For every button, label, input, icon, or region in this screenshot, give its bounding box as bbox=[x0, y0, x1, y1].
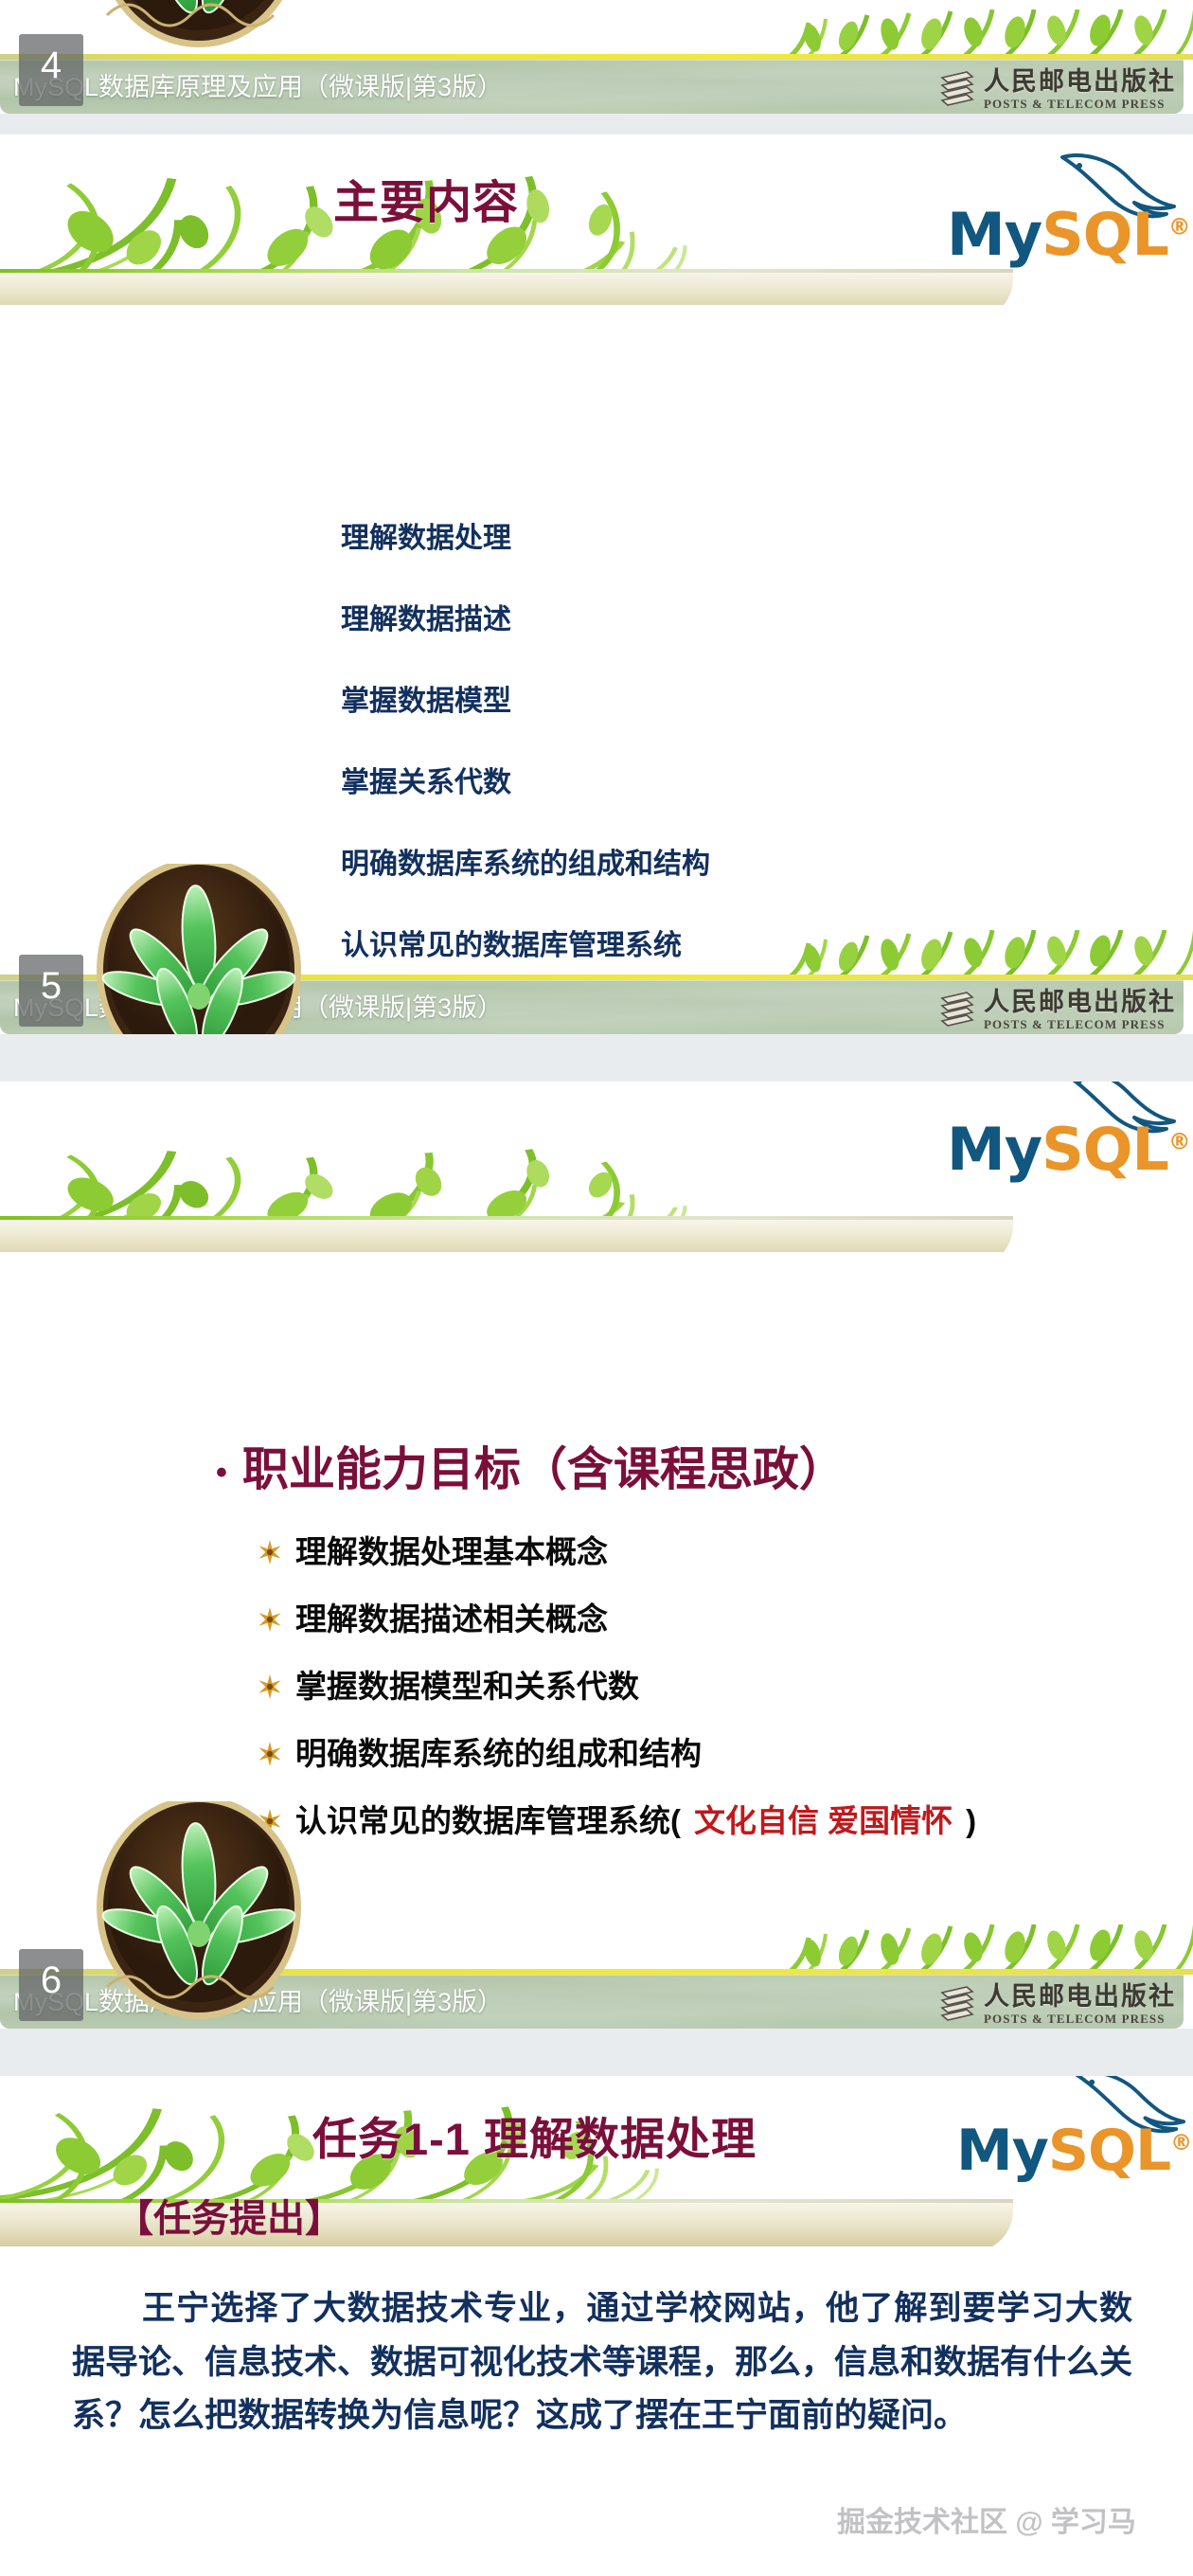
goal-item-text: 认识常见的数据库管理系统( bbox=[295, 1805, 681, 1836]
site-watermark: 掘金技术社区 @ 学习马 bbox=[837, 2498, 1136, 2540]
task-paragraph: 王宁选择了大数据技术专业，通过学校网站，他了解到要学习大数据导论、信息技术、数据… bbox=[72, 2282, 1132, 2443]
publisher-logo: 人民邮电出版社 POSTS & TELECOM PRESS bbox=[938, 68, 1176, 110]
header-tan-band bbox=[0, 1220, 1013, 1252]
mysql-sql-text: SQL bbox=[1042, 1115, 1168, 1184]
goal-item-highlight: 文化自信 爱国情怀 bbox=[694, 1805, 953, 1836]
toc-item[interactable]: 理解数据描述 bbox=[341, 606, 710, 635]
page-number-badge: 6 bbox=[19, 1949, 83, 2021]
mysql-logo: MySQL® bbox=[947, 155, 1184, 269]
goal-item-text: 理解数据处理基本概念 bbox=[295, 1536, 608, 1567]
slide-gap bbox=[0, 1034, 1193, 1082]
mysql-wordmark: MySQL® bbox=[956, 2118, 1191, 2184]
publisher-name-en: POSTS & TELECOM PRESS bbox=[984, 1018, 1176, 1030]
toc-item[interactable]: 掌握关系代数 bbox=[341, 769, 710, 797]
slide-5: 主要内容 MySQL® 理解数据处理 理解数据描述 掌握数据模型 掌握关系代数 … bbox=[0, 134, 1193, 1034]
publisher-mark-icon bbox=[938, 989, 976, 1030]
registered-mark-icon: ® bbox=[1170, 2131, 1191, 2156]
toc-item[interactable]: 认识常见的数据库管理系统 bbox=[341, 932, 710, 960]
slide-4: 4 MySQL数据库原理及应用（微课版|第3版） 人民邮电出版社 POSTS &… bbox=[0, 0, 1193, 114]
slide-gap bbox=[0, 114, 1193, 134]
mysql-sql-text: SQL bbox=[1048, 2118, 1170, 2184]
plant-medallion-icon bbox=[90, 1801, 308, 2029]
goal-section-title-text: 职业能力目标（含课程思政） bbox=[242, 1444, 846, 1495]
mysql-wordmark: MySQL® bbox=[947, 1115, 1190, 1184]
star-bullet-icon bbox=[258, 1540, 282, 1565]
goal-item-text: 掌握数据模型和关系代数 bbox=[295, 1671, 639, 1702]
mysql-sql-text: SQL bbox=[1042, 200, 1168, 269]
goal-item-text: 理解数据描述相关概念 bbox=[295, 1603, 608, 1635]
star-bullet-icon bbox=[258, 1742, 282, 1766]
presentation-scroll: 4 MySQL数据库原理及应用（微课版|第3版） 人民邮电出版社 POSTS &… bbox=[0, 0, 1193, 2576]
slide-title: 主要内容 bbox=[333, 165, 519, 231]
goal-item[interactable]: 认识常见的数据库管理系统(文化自信 爱国情怀) bbox=[258, 1805, 976, 1836]
goal-item-text: 明确数据库系统的组成和结构 bbox=[295, 1738, 702, 1769]
publisher-name-cn: 人民邮电出版社 bbox=[984, 1984, 1176, 2010]
footer-course-title: MySQL数据库原理及应用（微课版|第3版） bbox=[13, 66, 503, 103]
goal-item[interactable]: 理解数据描述相关概念 bbox=[258, 1603, 976, 1635]
slide-title: 任务1-1 理解数据处理 bbox=[312, 2102, 757, 2168]
publisher-logo: 人民邮电出版社 POSTS & TELECOM PRESS bbox=[938, 1983, 1176, 2025]
page-number-badge: 5 bbox=[19, 955, 83, 1027]
publisher-name-en: POSTS & TELECOM PRESS bbox=[984, 2012, 1176, 2025]
goal-list: 理解数据处理基本概念 理解数据描述相关概念 掌握数据模型和关系代数 bbox=[258, 1536, 976, 1836]
publisher-logo: 人民邮电出版社 POSTS & TELECOM PRESS bbox=[938, 989, 1176, 1030]
toc-list: 理解数据处理 理解数据描述 掌握数据模型 掌握关系代数 明确数据库系统的组成和结… bbox=[341, 525, 710, 960]
slide-gap bbox=[0, 2029, 1193, 2076]
goal-item[interactable]: 明确数据库系统的组成和结构 bbox=[258, 1738, 976, 1769]
registered-mark-icon: ® bbox=[1168, 213, 1190, 240]
slide-7: 任务1-1 理解数据处理 MySQL® 【任务提出】 王宁选择了大数据技术专业，… bbox=[0, 2076, 1193, 2576]
star-bullet-icon bbox=[258, 1674, 282, 1699]
page-number-badge: 4 bbox=[19, 34, 83, 106]
mysql-wordmark: MySQL® bbox=[947, 200, 1190, 269]
header-tan-band bbox=[0, 273, 1013, 305]
goal-item[interactable]: 掌握数据模型和关系代数 bbox=[258, 1671, 976, 1702]
mysql-my-text: My bbox=[956, 2118, 1048, 2184]
goal-section-title: •职业能力目标（含课程思政） bbox=[216, 1432, 846, 1499]
mysql-my-text: My bbox=[947, 1115, 1042, 1184]
publisher-name-en: POSTS & TELECOM PRESS bbox=[984, 98, 1176, 110]
mysql-logo: MySQL® bbox=[956, 2076, 1193, 2184]
plant-medallion-icon bbox=[90, 0, 308, 66]
publisher-mark-icon bbox=[938, 1983, 976, 2025]
goal-item-suffix: ) bbox=[966, 1805, 976, 1836]
toc-item[interactable]: 掌握数据模型 bbox=[341, 688, 710, 716]
publisher-name-cn: 人民邮电出版社 bbox=[984, 990, 1176, 1015]
star-bullet-icon bbox=[258, 1607, 282, 1632]
goal-item[interactable]: 理解数据处理基本概念 bbox=[258, 1536, 976, 1567]
bullet-dot-icon: • bbox=[216, 1455, 227, 1491]
publisher-name-cn: 人民邮电出版社 bbox=[984, 69, 1176, 95]
mysql-my-text: My bbox=[947, 200, 1042, 269]
toc-item[interactable]: 理解数据处理 bbox=[341, 525, 710, 553]
task-section-heading: 【任务提出】 bbox=[116, 2188, 343, 2243]
mysql-logo: MySQL® bbox=[947, 1082, 1184, 1184]
toc-item[interactable]: 明确数据库系统的组成和结构 bbox=[341, 850, 710, 879]
registered-mark-icon: ® bbox=[1168, 1128, 1190, 1154]
publisher-mark-icon bbox=[938, 68, 976, 110]
slide-6: MySQL® •职业能力目标（含课程思政） 理解数据处理基本概念 理解数据描述相… bbox=[0, 1082, 1193, 2029]
plant-medallion-icon bbox=[90, 864, 308, 1034]
